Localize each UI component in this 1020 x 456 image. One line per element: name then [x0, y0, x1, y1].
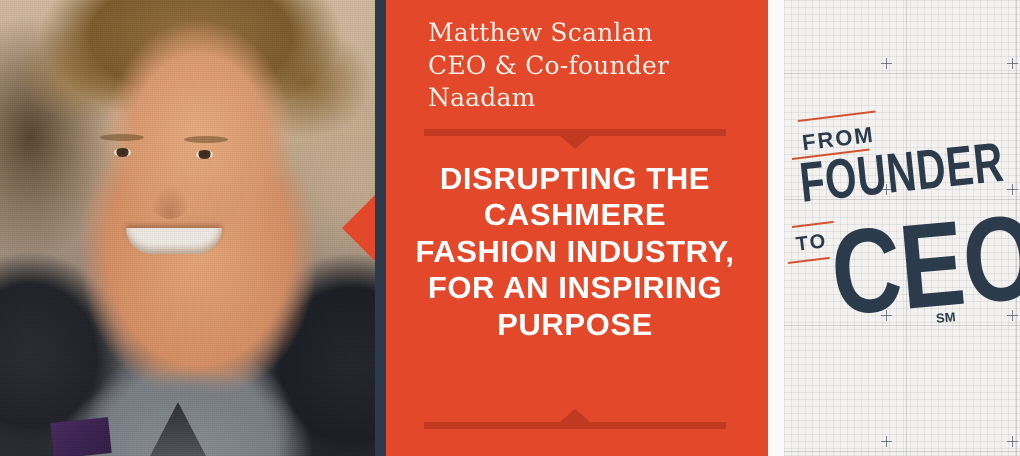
- up-triangle-icon: [560, 409, 590, 422]
- title-panel: Matthew Scanlan CEO & Co-founder Naadam …: [382, 0, 768, 456]
- speaker-meta: Matthew Scanlan CEO & Co-founder Naadam: [382, 17, 768, 115]
- logo-service-mark: SM: [935, 309, 956, 326]
- navy-divider-bar: [375, 0, 386, 456]
- top-divider-rule: [424, 129, 726, 136]
- speaker-role: CEO & Co-founder: [428, 50, 768, 83]
- crosshair-icon: [881, 58, 892, 69]
- speaker-company: Naadam: [428, 82, 768, 115]
- logo-rule-below-to: [788, 257, 830, 264]
- logo-rule-above-from: [798, 111, 876, 122]
- podcast-episode-banner: Matthew Scanlan CEO & Co-founder Naadam …: [0, 0, 1020, 456]
- down-triangle-icon: [560, 136, 590, 149]
- crosshair-icon: [1007, 436, 1018, 447]
- photo-grain-overlay: [0, 0, 382, 456]
- crosshair-icon: [881, 436, 892, 447]
- episode-headline: DISRUPTING THE CASHMERE FASHION INDUSTRY…: [410, 161, 740, 344]
- speaker-photo: [0, 0, 382, 456]
- brand-logo-panel: FROM FOUNDER TO CEO SM: [768, 0, 1020, 456]
- bottom-divider-rule: [424, 422, 726, 429]
- from-founder-to-ceo-logo[interactable]: FROM FOUNDER TO CEO SM: [786, 110, 996, 340]
- logo-word-ceo: CEO: [827, 204, 1020, 327]
- panel-gutter: [768, 0, 784, 456]
- logo-word-to: TO: [795, 230, 829, 257]
- crosshair-icon: [1007, 58, 1018, 69]
- speaker-name: Matthew Scanlan: [428, 17, 768, 50]
